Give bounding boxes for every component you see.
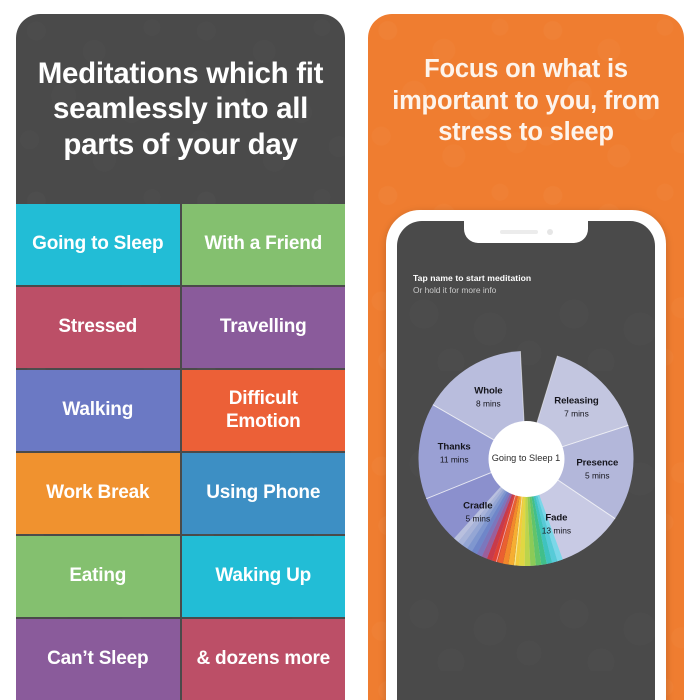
- phone-mockup: Tap name to start meditation Or hold it …: [386, 210, 666, 700]
- phone-screen: Tap name to start meditation Or hold it …: [397, 221, 655, 700]
- category-tile-label: Eating: [69, 565, 126, 587]
- category-tile-label: Stressed: [58, 316, 137, 338]
- meditation-donut-chart[interactable]: Going to Sleep 1 Releasing7 minsPresence…: [419, 351, 634, 566]
- category-tile-label: Waking Up: [215, 565, 311, 587]
- front-camera-icon: [547, 229, 553, 235]
- category-tile[interactable]: Using Phone: [182, 453, 346, 534]
- hub-label: Going to Sleep 1: [492, 453, 560, 465]
- category-tile-label: Travelling: [220, 316, 307, 338]
- category-tile-label: Work Break: [46, 482, 149, 504]
- left-headline-area: Meditations which fit seamlessly into al…: [16, 14, 345, 204]
- meditation-hint: Tap name to start meditation Or hold it …: [413, 273, 531, 296]
- right-headline: Focus on what is important to you, from …: [382, 54, 670, 149]
- donut-center-hub[interactable]: Going to Sleep 1: [488, 421, 564, 497]
- category-tile-label: & dozens more: [196, 648, 330, 670]
- category-tile[interactable]: Can’t Sleep: [16, 619, 180, 700]
- category-tile[interactable]: Waking Up: [182, 536, 346, 617]
- category-tile[interactable]: & dozens more: [182, 619, 346, 700]
- right-promo-panel: Focus on what is important to you, from …: [368, 14, 684, 700]
- hint-secondary: Or hold it for more info: [413, 285, 531, 296]
- category-tile-label: Going to Sleep: [32, 233, 163, 255]
- category-tile[interactable]: Work Break: [16, 453, 180, 534]
- category-tile[interactable]: Travelling: [182, 287, 346, 368]
- category-tile-label: Difficult Emotion: [190, 388, 338, 432]
- category-tile[interactable]: Going to Sleep: [16, 204, 180, 285]
- category-tile-label: With a Friend: [204, 233, 322, 255]
- right-headline-area: Focus on what is important to you, from …: [368, 14, 684, 189]
- category-tile-label: Walking: [62, 399, 133, 421]
- category-tile[interactable]: Difficult Emotion: [182, 370, 346, 451]
- category-tile[interactable]: Stressed: [16, 287, 180, 368]
- category-tile[interactable]: Eating: [16, 536, 180, 617]
- category-tile-grid: Going to SleepWith a FriendStressedTrave…: [16, 204, 345, 700]
- category-tile[interactable]: Walking: [16, 370, 180, 451]
- earpiece-speaker-icon: [500, 230, 538, 234]
- screenshot-stage: Meditations which fit seamlessly into al…: [0, 0, 700, 700]
- category-tile-label: Using Phone: [206, 482, 320, 504]
- category-tile[interactable]: With a Friend: [182, 204, 346, 285]
- left-promo-panel: Meditations which fit seamlessly into al…: [16, 14, 345, 700]
- hint-primary: Tap name to start meditation: [413, 273, 531, 285]
- left-headline: Meditations which fit seamlessly into al…: [32, 56, 329, 161]
- phone-notch: [464, 221, 588, 243]
- category-tile-label: Can’t Sleep: [47, 648, 148, 670]
